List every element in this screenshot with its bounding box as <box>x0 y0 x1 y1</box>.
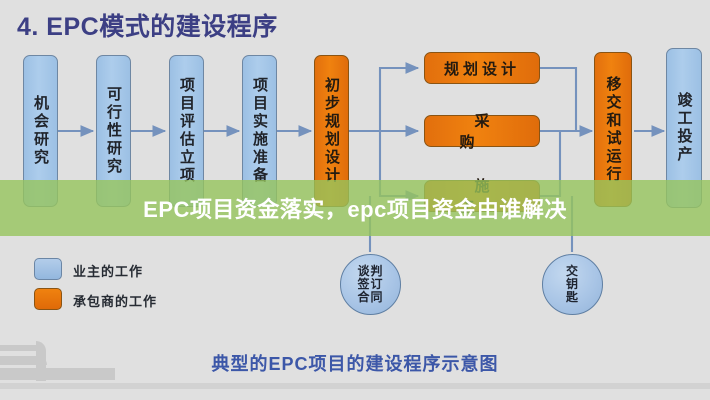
flow-box-label: 初步规划设计 <box>324 77 339 185</box>
flow-box-label: 项目实施准备 <box>252 77 267 185</box>
legend-label-owner: 业主的工作 <box>73 261 143 280</box>
flow-box-label: 竣工投产 <box>677 92 692 164</box>
milestone-circle-keys[interactable]: 交钥匙 <box>542 254 603 315</box>
overlay-title: EPC项目资金落实，epc项目资金由谁解决 <box>0 180 710 236</box>
page-title: 4. EPC模式的建设程序 <box>17 7 278 43</box>
flow-box-stage-plan[interactable]: 规划设计 <box>424 52 540 84</box>
milestone-label: 交钥匙 <box>563 265 583 305</box>
flow-box-label: 项目评估立项 <box>179 77 194 185</box>
flow-box-label: 可行性研究 <box>106 86 121 176</box>
flow-box-label: 移交和试运行 <box>606 76 621 184</box>
milestone-label: 谈判签订合同 <box>352 265 390 305</box>
diagram-canvas: 4. EPC模式的建设程序 <box>0 0 710 400</box>
decorative-bar-4 <box>0 383 710 389</box>
milestone-circle-contract[interactable]: 谈判签订合同 <box>340 254 401 315</box>
flow-box-stage-procure[interactable]: 采购 <box>424 115 540 147</box>
legend-swatch-owner <box>34 258 62 280</box>
legend-swatch-contractor <box>34 288 62 310</box>
flow-box-label: 采购 <box>425 110 539 152</box>
flow-box-label: 机会研究 <box>33 95 48 167</box>
diagram-caption: 典型的EPC项目的建设程序示意图 <box>0 350 710 376</box>
legend-label-contractor: 承包商的工作 <box>73 291 157 310</box>
flow-box-label: 规划设计 <box>444 58 520 79</box>
